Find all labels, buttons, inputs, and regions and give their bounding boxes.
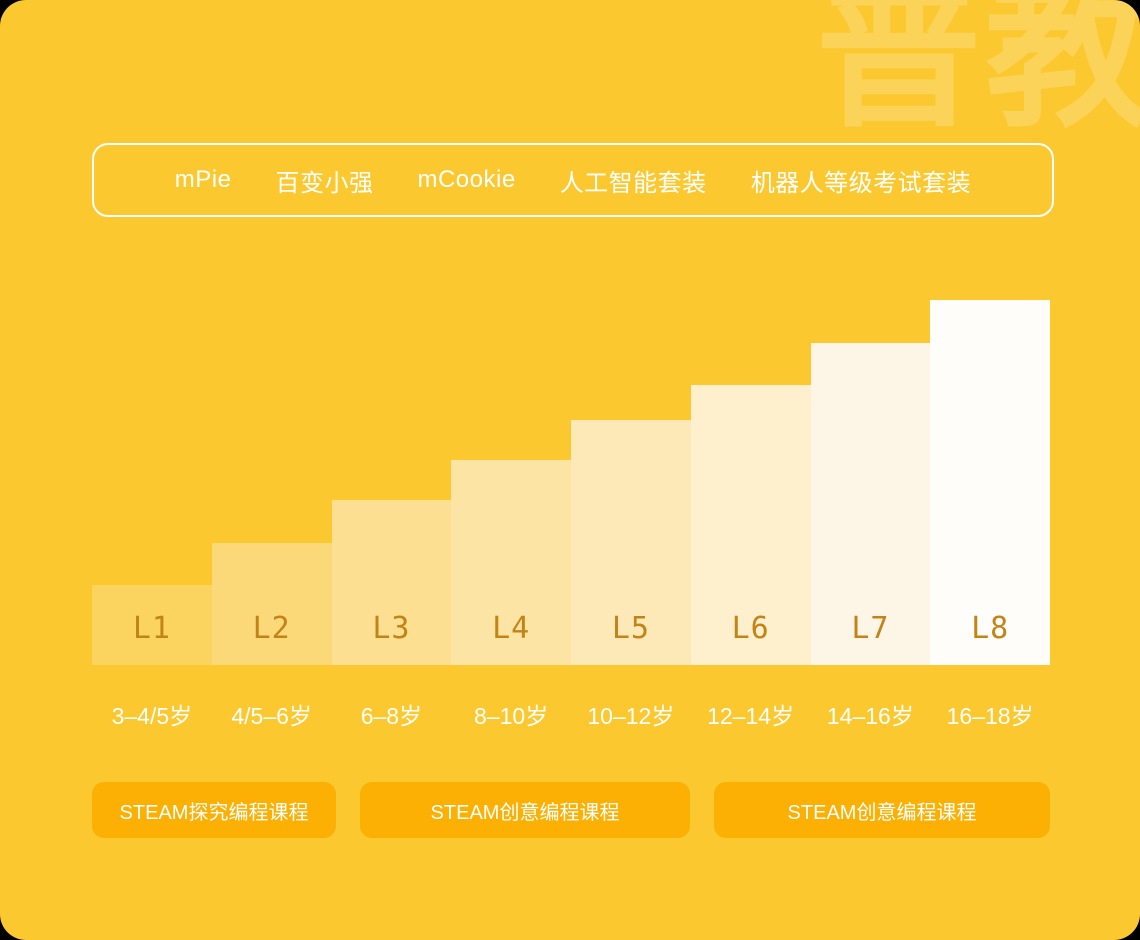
bar-label: L5 — [612, 611, 650, 665]
age-label-l4: 8–10岁 — [451, 697, 571, 731]
bar-label: L3 — [372, 611, 410, 665]
watermark-text: 普教 — [816, 0, 1140, 137]
age-label-l8: 16–18岁 — [930, 697, 1050, 731]
bar-label: L6 — [732, 611, 770, 665]
bar-l6: L6 — [691, 611, 811, 665]
bar-label: L2 — [253, 611, 291, 665]
bar-l4: L4 — [451, 611, 571, 665]
bar-l3: L3 — [332, 611, 452, 665]
bar-l5: L5 — [571, 611, 691, 665]
tab-mpie[interactable]: mPie — [153, 166, 254, 194]
bar-l2: L2 — [212, 611, 332, 665]
bar-label: L8 — [971, 611, 1009, 665]
bar-l7: L7 — [811, 611, 931, 665]
age-label-l6: 12–14岁 — [691, 697, 811, 731]
tab-ai-kit[interactable]: 人工智能套装 — [538, 163, 729, 198]
age-label-l3: 6–8岁 — [332, 697, 452, 731]
tab-baibianxiaoqiang[interactable]: 百变小强 — [253, 163, 395, 198]
product-tab-bar[interactable]: mPie 百变小强 mCookie 人工智能套装 机器人等级考试套装 — [92, 143, 1054, 217]
bar-label: L1 — [133, 611, 171, 665]
tab-mcookie[interactable]: mCookie — [395, 166, 537, 194]
age-label-l7: 14–16岁 — [811, 697, 931, 731]
course-pill-row: STEAM探究编程课程 STEAM创意编程课程 STEAM创意编程课程 — [92, 782, 1050, 838]
course-pill-2[interactable]: STEAM创意编程课程 — [360, 782, 690, 838]
bar-l8: L8 — [930, 611, 1050, 665]
bar-l1: L1 — [92, 611, 212, 665]
age-range-row: 3–4/5岁4/5–6岁6–8岁8–10岁10–12岁12–14岁14–16岁1… — [92, 697, 1050, 731]
age-label-l1: 3–4/5岁 — [92, 697, 212, 731]
course-pill-1[interactable]: STEAM探究编程课程 — [92, 782, 336, 838]
bar-label: L4 — [492, 611, 530, 665]
tab-robot-exam-kit[interactable]: 机器人等级考试套装 — [729, 163, 994, 198]
course-levels-card: 普教 mPie 百变小强 mCookie 人工智能套装 机器人等级考试套装 L1… — [0, 0, 1140, 940]
level-bar-chart: L1L2L3L4L5L6L7L8 — [92, 290, 1050, 665]
age-label-l5: 10–12岁 — [571, 697, 691, 731]
age-label-l2: 4/5–6岁 — [212, 697, 332, 731]
course-pill-3[interactable]: STEAM创意编程课程 — [714, 782, 1050, 838]
bar-label: L7 — [851, 611, 889, 665]
